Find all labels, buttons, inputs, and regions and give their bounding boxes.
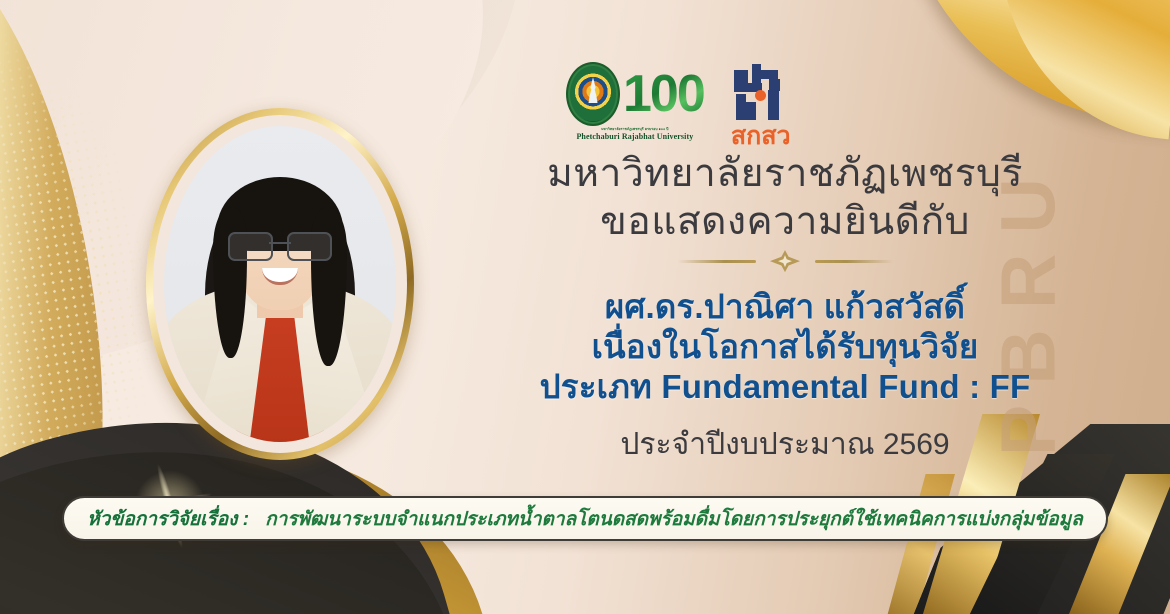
headline-line-1: มหาวิทยาลัยราชภัฏเพชรบุรี: [470, 150, 1100, 198]
certificate-banner: PBRU: [0, 0, 1170, 614]
honoree-occasion: เนื่องในโอกาสได้รับทุนวิจัย: [470, 327, 1100, 367]
portrait-photo: [164, 126, 396, 442]
tsri-orange-dot-icon: [755, 90, 766, 101]
divider-bar-right: [815, 260, 893, 263]
centennial-number: 100: [623, 71, 704, 118]
tsri-mark-icon: [730, 64, 792, 122]
ornamental-divider: [678, 249, 893, 273]
honoree-portrait: [146, 108, 414, 460]
glasses-bridge: [269, 242, 291, 245]
glasses-lens-right: [287, 232, 332, 261]
centennial-logo: 100 มหาวิทยาลัยราชภัฏเพชรบุรี ครบรอบ ๑๐๐…: [566, 62, 704, 141]
divider-diamond-inner-icon: [778, 255, 792, 267]
portrait-glasses-icon: [228, 232, 332, 258]
portrait-gold-frame: [146, 108, 414, 460]
glasses-lens-left: [228, 232, 273, 261]
tsri-label: สกสว: [731, 124, 791, 149]
headline-block: มหาวิทยาลัยราชภัฏเพชรบุรี ขอแสดงความยินด…: [470, 150, 1100, 468]
logo-row: 100 มหาวิทยาลัยราชภัฏเพชรบุรี ครบรอบ ๑๐๐…: [566, 62, 792, 149]
research-topic-banner: หัวข้อการวิจัยเรื่อง : การพัฒนาระบบจำแนก…: [62, 496, 1108, 541]
research-topic-title: การพัฒนาระบบจำแนกประเภทน้ำตาลโตนดสดพร้อม…: [265, 504, 1083, 534]
centennial-english-caption: Phetchaburi Rajabhat University: [576, 132, 693, 141]
headline-line-2: ขอแสดงความยินดีกับ: [470, 198, 1100, 246]
centennial-logo-row: 100: [566, 62, 704, 126]
honoree-fund-type: ประเภท Fundamental Fund : FF: [470, 367, 1100, 407]
tsri-logo: สกสว: [730, 64, 792, 149]
honoree-name: ผศ.ดร.ปาณิศา แก้วสวัสดิ์: [470, 287, 1100, 327]
research-topic-label: หัวข้อการวิจัยเรื่อง :: [87, 504, 249, 534]
university-seal-icon: [566, 62, 620, 126]
fiscal-year: ประจำปีงบประมาณ 2569: [470, 421, 1100, 468]
divider-bar-left: [678, 260, 756, 263]
honoree-block: ผศ.ดร.ปาณิศา แก้วสวัสดิ์ เนื่องในโอกาสได…: [470, 287, 1100, 407]
portrait-inner-ring: [153, 115, 407, 453]
